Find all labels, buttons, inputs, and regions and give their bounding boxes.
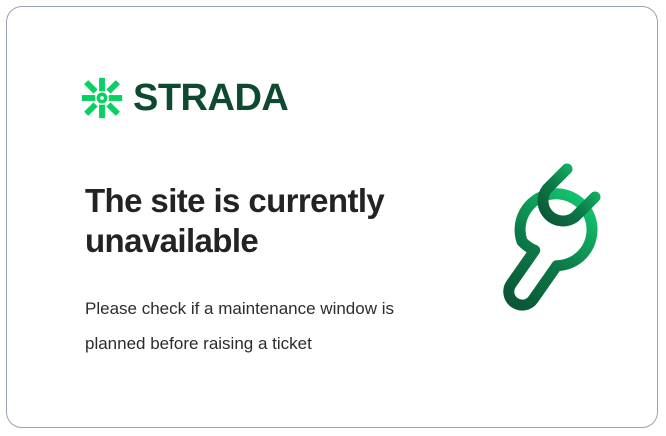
error-page: STRADA The site is currently unavailable… (0, 0, 666, 436)
strada-asterisk-star-icon (81, 77, 123, 119)
brand-wordmark: STRADA (133, 79, 288, 117)
page-description: Please check if a maintenance window is … (85, 292, 395, 362)
wrench-icon (459, 152, 624, 317)
status-card: STRADA The site is currently unavailable… (6, 6, 658, 428)
maintenance-illustration (459, 152, 624, 317)
page-title: The site is currently unavailable (85, 181, 415, 262)
brand-lockup: STRADA (81, 73, 288, 123)
